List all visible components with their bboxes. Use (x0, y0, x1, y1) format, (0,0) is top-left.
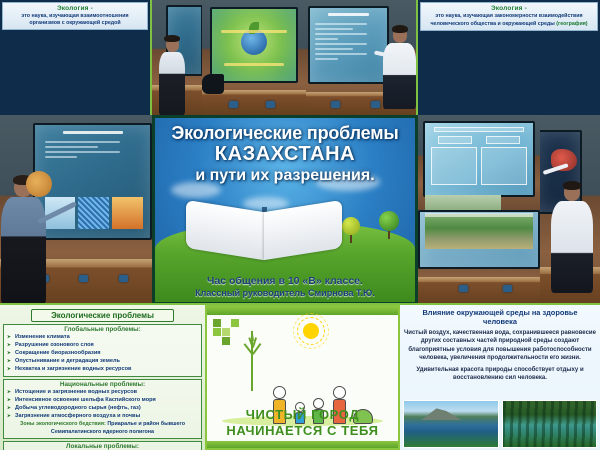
group-title: Локальные проблемы: (7, 443, 198, 450)
person-hair (392, 25, 408, 33)
health-photo-row (403, 400, 597, 448)
person-student (389, 27, 411, 109)
slide-line (315, 28, 353, 30)
logo-square (213, 337, 221, 345)
title-line-1: Экологические проблемы (159, 124, 411, 143)
slide-heading: Экология - (6, 5, 144, 12)
panel-ecology-definition-geography: Экология - это наука, изучающая закономе… (418, 0, 600, 115)
person-body (159, 52, 185, 115)
footer-line-2: Классный руководитель Смирнова Т.Ю. (158, 288, 412, 299)
list-item: Сокращение биоразнообразия (7, 350, 198, 358)
slide-title-bar (221, 30, 288, 33)
group-title: Национальные проблемы: (7, 381, 198, 388)
forest-river-photo (502, 400, 598, 448)
logo-square (213, 328, 221, 336)
book-page-right (264, 200, 342, 260)
problems-group-global: Глобальные проблемы: Изменение климата Р… (3, 324, 202, 377)
panel-ecological-problems: Экологические проблемы Глобальные пробле… (0, 305, 205, 450)
forest-landscape-image (425, 214, 534, 249)
sun-icon (303, 323, 319, 339)
tree-art (379, 211, 399, 239)
traditional-headwear-ornament (26, 171, 52, 197)
panel-clean-city-poster: ЧИСТЫЙ ГОРОД НАЧИНАЕТСЯ С ТЕБЯ (205, 305, 400, 450)
group-list: Изменение климата Разрушение озонового с… (7, 334, 198, 374)
figure-head (273, 386, 286, 399)
slide-caption-bar (425, 213, 534, 217)
panel-earth-poster-slide (202, 0, 306, 115)
desk-knob (79, 275, 88, 282)
person-silhouette (202, 74, 224, 94)
person-headwear (164, 35, 179, 42)
pixel-logo (213, 319, 239, 345)
slide-line (315, 53, 368, 55)
slide-heading: Экология - (424, 5, 594, 12)
title-block: Экологические проблемы КАЗАХСТАНА и пути… (159, 124, 411, 186)
panel-projected-diagram (418, 115, 540, 210)
panel-main-title: Экологические проблемы КАЗАХСТАНА и пути… (152, 115, 418, 305)
health-heading-line-2: человека (483, 317, 517, 326)
poster-line-2: НАЧИНАЕТСЯ С ТЕБЯ (207, 423, 398, 439)
desk-knob (266, 101, 275, 108)
slide-line (315, 38, 338, 40)
desk-knob (119, 275, 128, 282)
desk-knob (229, 101, 238, 108)
list-item: Изменение климата (7, 334, 198, 342)
group-list: Истощение и загрязнение водных ресурсов … (7, 389, 198, 421)
group-note: Зоны экологического бедствия: Приаралье … (7, 421, 198, 436)
panel-student-traditional-headwear (0, 115, 152, 305)
slide-body-line2: человеческого общества и окружающей сред… (424, 21, 594, 28)
slide-line (315, 58, 338, 60)
slide-line (315, 23, 368, 25)
desk-knob (371, 101, 380, 108)
panel-environment-health: Влияние окружающей среды на здоровье чел… (400, 305, 600, 450)
tree-art (342, 217, 360, 243)
caption-bar: Экология - это наука, изучающая закономе… (420, 2, 598, 31)
health-heading-line-1: Влияние окружающей среды на здоровье (422, 308, 577, 317)
slide-line (315, 43, 368, 45)
footer-line-1: Час общения в 10 «В» классе. (158, 275, 412, 288)
note-label: Зоны экологического бедствия: (20, 421, 106, 427)
list-item: Загрязнение атмосферного воздуха и почвы (7, 413, 198, 421)
panel-separator (416, 0, 418, 115)
title-line-3: и пути их разрешения. (159, 167, 411, 186)
diagram-node (486, 136, 521, 144)
title-slide: Экологические проблемы КАЗАХСТАНА и пути… (152, 115, 418, 305)
tree-trunk (388, 231, 390, 239)
diagram-group-left (431, 147, 476, 184)
person-hair (563, 181, 582, 190)
person-presenter (164, 37, 181, 115)
panel-ecology-definition-biology: Экология - это наука, изучающая взаимоот… (0, 0, 150, 115)
slide-body-line1: это наука, изучающая закономерности взаи… (424, 13, 594, 20)
slide-body-tag: (география) (556, 21, 587, 27)
panel-separator (0, 303, 600, 305)
tree-crown (342, 217, 360, 235)
open-book-art (186, 206, 342, 254)
list-item: Добыча углеводородного сырья (нефть, газ… (7, 405, 198, 413)
problems-slide: Экологические проблемы Глобальные пробле… (0, 305, 205, 450)
slide-subtitle-bar (224, 63, 284, 66)
logo-square (222, 319, 230, 327)
poster-text-block: ЧИСТЫЙ ГОРОД НАЧИНАЕТСЯ С ТЕБЯ (207, 407, 398, 440)
list-item: Истощение и загрязнение водных ресурсов (7, 389, 198, 397)
desk (418, 277, 540, 306)
panel-student-pointing-white-shirt (306, 0, 418, 115)
desk-knob (459, 285, 468, 292)
bottom-grass-band (207, 441, 398, 448)
mountain-lake-photo (403, 400, 499, 448)
diagram-node (438, 136, 473, 144)
slide-line (315, 48, 353, 50)
slide-line (328, 13, 370, 16)
person-body (1, 197, 46, 305)
slide-thumb (112, 197, 143, 229)
presentation-collage: Экология - это наука, изучающая взаимоот… (0, 0, 600, 450)
list-item: Опустынивание и деградация земель (7, 358, 198, 366)
tree-trunk (350, 235, 352, 243)
person-body (551, 201, 593, 293)
slide-text-lines (45, 131, 141, 188)
health-slide: Влияние окружающей среды на здоровье чел… (400, 305, 600, 450)
health-paragraph-1: Чистый воздух, качественная вода, сохран… (404, 329, 596, 363)
person-student (558, 183, 586, 293)
projection-screen (210, 7, 297, 83)
logo-square (222, 337, 230, 345)
diagram-title-box (434, 127, 525, 132)
tree-illustration (237, 331, 267, 391)
slide-bottom-photo (425, 195, 501, 210)
title-line-2: КАЗАХСТАНА (159, 143, 411, 167)
poster-line-1: ЧИСТЫЙ ГОРОД (207, 407, 398, 423)
figure-head (333, 386, 346, 399)
desk-knob (503, 285, 512, 292)
slide-surface: Экология - это наука, изучающая взаимоот… (0, 0, 150, 115)
slide-surface: Экология - это наука, изучающая закономе… (418, 0, 600, 115)
panel-separator (150, 0, 152, 115)
slide-line (45, 156, 78, 158)
diagram-group-right (481, 147, 526, 184)
problems-group-local: Локальные проблемы: Нарушения природного… (3, 441, 202, 450)
health-paragraph-2: Удивительная красота природы способствуе… (404, 366, 596, 383)
slide-thumb (78, 197, 109, 229)
slide-line (63, 131, 123, 134)
panel-presenter-dark (150, 0, 202, 115)
slide-line (45, 141, 120, 143)
tree-crown (379, 211, 399, 231)
slide-line (315, 33, 368, 35)
slide-text-lines (315, 13, 382, 77)
projection-screen (423, 121, 535, 197)
logo-square (231, 319, 239, 327)
list-item: Разрушение озонового слоя (7, 342, 198, 350)
list-item: Нехватка и загрязнение водных ресурсов (7, 366, 198, 374)
group-title: Глобальные проблемы: (7, 326, 198, 333)
problems-group-national: Национальные проблемы: Истощение и загря… (3, 379, 202, 439)
desk-knob (331, 101, 340, 108)
logo-square (222, 328, 230, 336)
slide-line (45, 146, 99, 148)
slide-body: это наука, изучающая взаимоотношения орг… (6, 13, 144, 26)
list-item: Интенсивное освоение шельфа Каспийского … (7, 397, 198, 405)
footer-block: Час общения в 10 «В» классе. Классный ру… (158, 275, 412, 299)
panel-student-at-screen (540, 115, 600, 305)
logo-square (213, 319, 221, 327)
health-heading: Влияние окружающей среды на здоровье чел… (404, 308, 596, 327)
projection-screen (308, 6, 389, 84)
book-page-left (186, 200, 264, 260)
slide-line (45, 151, 120, 153)
caption-bar: Экология - это наука, изучающая взаимоот… (2, 2, 148, 30)
panel-projected-nature-photo (418, 210, 540, 305)
poster-surface: ЧИСТЫЙ ГОРОД НАЧИНАЕТСЯ С ТЕБЯ (205, 305, 400, 450)
problems-heading: Экологические проблемы (31, 309, 174, 322)
projection-screen (418, 210, 540, 269)
tree-branch (251, 333, 254, 341)
